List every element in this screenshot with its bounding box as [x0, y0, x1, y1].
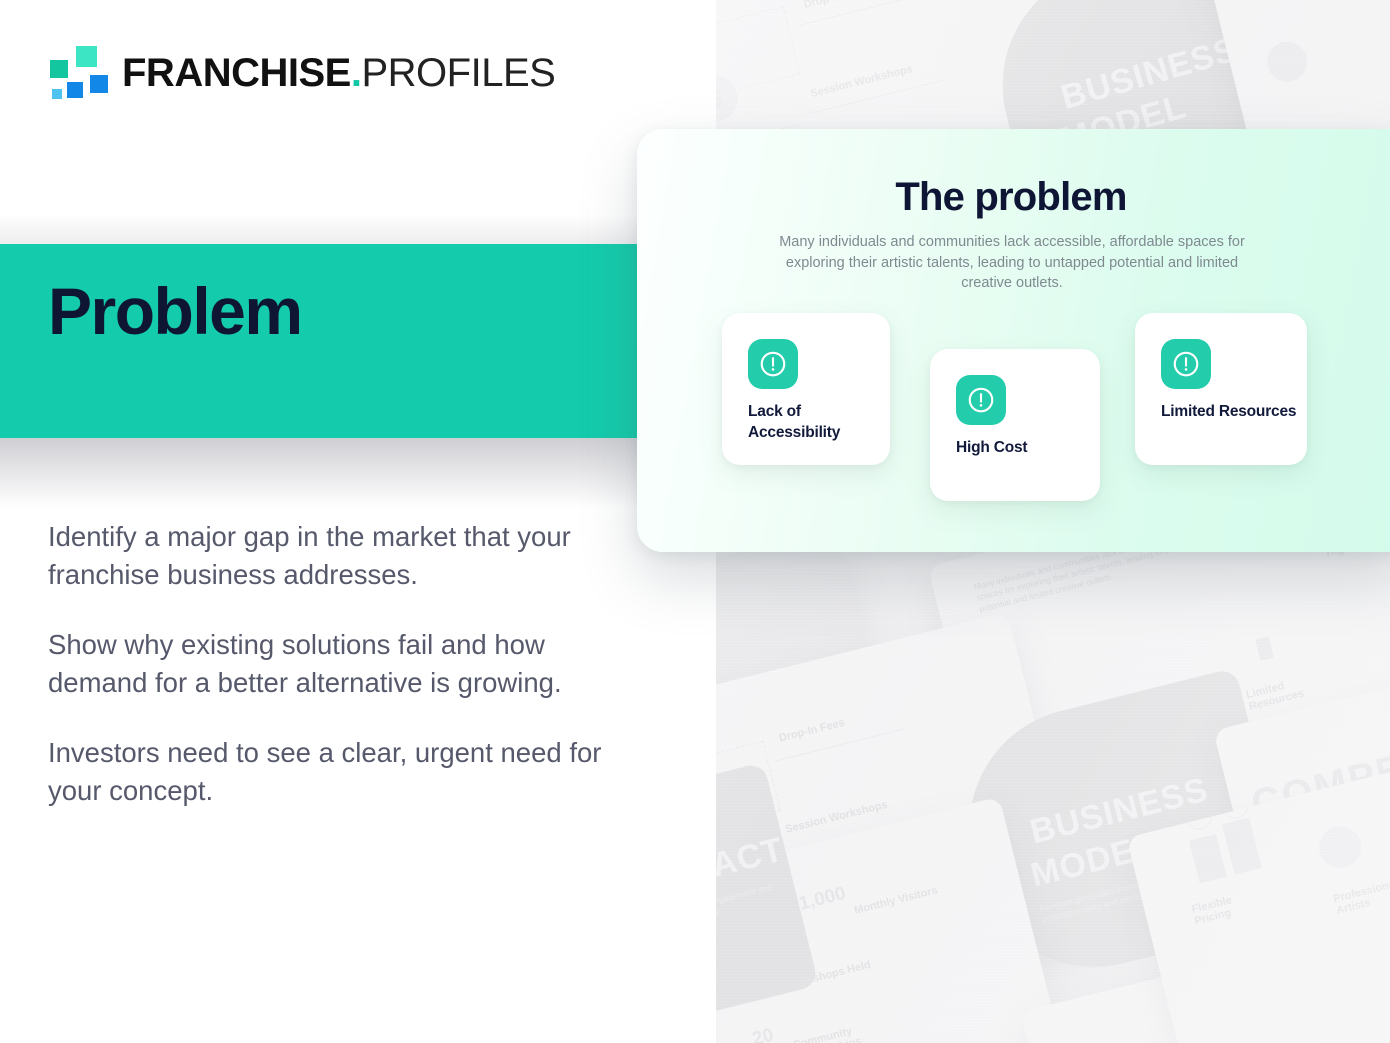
logo-square-sky [50, 87, 64, 101]
problem-card-label: Limited Resources [1161, 401, 1296, 422]
alert-circle-icon [748, 339, 798, 389]
collage-text: 1,000 [797, 883, 848, 916]
logo-word-bold: FRANCHISE [122, 51, 351, 95]
logo-square-blue [88, 73, 110, 95]
body-paragraph: Show why existing solutions fail and how… [48, 626, 614, 702]
problem-preview-panel: The problem Many individuals and communi… [637, 129, 1390, 552]
logo-word-light: PROFILES [361, 51, 555, 95]
collage-text: Drop-In Fees [778, 717, 846, 745]
page-title: Problem [48, 278, 302, 344]
logo-square-teal-light [74, 44, 99, 69]
alert-circle-icon [956, 375, 1006, 425]
problem-card-list: Lack of Accessibility High Cost [637, 129, 1390, 552]
problem-card-label: Lack of Accessibility [748, 401, 890, 444]
logo-mark-squares-icon [48, 44, 104, 102]
body-copy: Identify a major gap in the market that … [48, 518, 614, 810]
left-content-column: FRANCHISE.PROFILES Problem Identify a ma… [0, 0, 716, 1043]
body-paragraph: Investors need to see a clear, urgent ne… [48, 734, 614, 810]
logo-word-dot: . [351, 51, 362, 95]
collage-text: Monthly Visitors [853, 884, 939, 916]
collage-text: Session Workshops [809, 63, 914, 100]
problem-card[interactable]: High Cost [930, 349, 1100, 501]
body-paragraph: Identify a major gap in the market that … [48, 518, 614, 594]
collage-text: Professional Artists [1332, 877, 1390, 917]
logo-square-blue-small [65, 80, 85, 100]
logo-wordmark: FRANCHISE.PROFILES [122, 53, 555, 93]
collage-text: Flexible Pricing [1190, 890, 1254, 928]
collage-text: Growing engagement and community [715, 879, 788, 928]
slide-canvas: Drop-In Fees Session Workshops Commissio… [0, 0, 1390, 1043]
section-band: Problem [0, 244, 637, 438]
band-shadow-top [0, 214, 637, 244]
problem-card[interactable]: Limited Resources [1135, 313, 1307, 465]
alert-circle-icon [1161, 339, 1211, 389]
problem-card[interactable]: Lack of Accessibility [722, 313, 890, 465]
collage-text: 20 [750, 1025, 776, 1043]
brand-logo[interactable]: FRANCHISE.PROFILES [48, 44, 555, 102]
band-shadow-bottom [0, 438, 646, 508]
logo-square-teal-dark [48, 58, 70, 80]
problem-card-label: High Cost [956, 437, 1027, 458]
collage-text: Community Partnerships [792, 1023, 866, 1043]
